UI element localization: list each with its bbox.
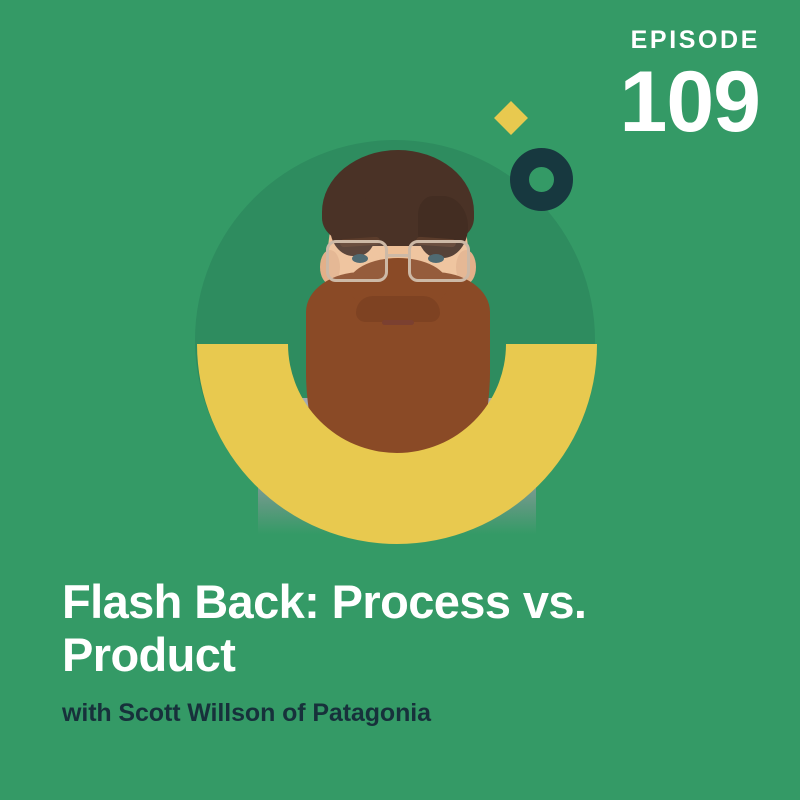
episode-block: EPISODE 109	[620, 28, 761, 144]
glasses-lens-left	[326, 240, 388, 282]
portrait-bottom-fade	[252, 470, 542, 540]
episode-subtitle: with Scott Willson of Patagonia	[62, 698, 722, 728]
portrait-hair	[322, 150, 474, 246]
portrait-glasses-icon	[324, 240, 474, 284]
donut-ring-shape	[510, 148, 573, 211]
episode-number: 109	[620, 61, 761, 144]
glasses-bridge	[388, 254, 410, 257]
portrait-mustache	[356, 296, 440, 322]
podcast-cover-art: EPISODE 109 Flash Back: Process vs. Prod…	[0, 0, 800, 800]
episode-text-block: Flash Back: Process vs. Product with Sco…	[62, 575, 722, 728]
glasses-lens-right	[408, 240, 470, 282]
episode-title: Flash Back: Process vs. Product	[62, 575, 662, 682]
episode-label: EPISODE	[620, 28, 761, 53]
guest-portrait-photo	[252, 112, 542, 540]
portrait-mouth	[382, 320, 414, 325]
